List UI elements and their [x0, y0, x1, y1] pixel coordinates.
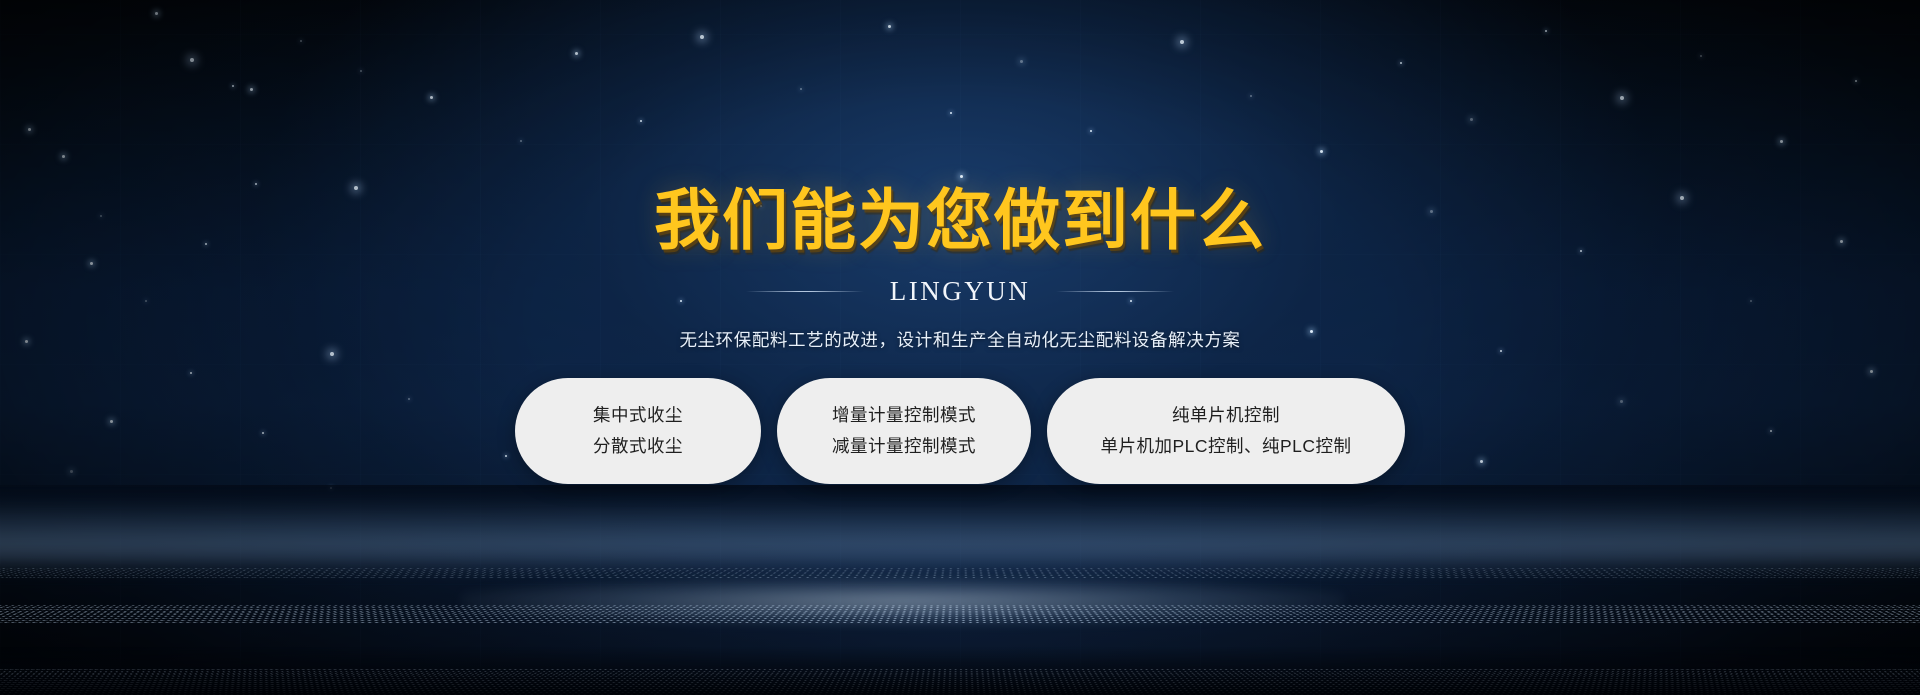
digital-wave-landscape [0, 485, 1920, 695]
wave-dot-layer-near [0, 669, 1920, 695]
hero-banner: 我们能为您做到什么 LINGYUN 无尘环保配料工艺的改进，设计和生产全自动化无… [0, 0, 1920, 695]
pill-line-1: 增量计量控制模式 [811, 400, 997, 431]
pill-line-2: 分散式收尘 [549, 431, 727, 462]
subtitle-row: LINGYUN [0, 276, 1920, 307]
feature-pill-control-system[interactable]: 纯单片机控制 单片机加PLC控制、纯PLC控制 [1047, 378, 1405, 484]
feature-pill-metering-mode[interactable]: 增量计量控制模式 减量计量控制模式 [777, 378, 1031, 484]
pill-line-1: 集中式收尘 [549, 400, 727, 431]
feature-pill-dust-collection[interactable]: 集中式收尘 分散式收尘 [515, 378, 761, 484]
pill-line-1: 纯单片机控制 [1081, 400, 1371, 431]
divider-line-right [1056, 291, 1174, 292]
wave-highlight [461, 577, 1344, 625]
divider-line-left [746, 291, 864, 292]
feature-pill-list: 集中式收尘 分散式收尘 增量计量控制模式 减量计量控制模式 纯单片机控制 单片机… [0, 378, 1920, 484]
wave-bottom-fade [0, 647, 1920, 695]
banner-description: 无尘环保配料工艺的改进，设计和生产全自动化无尘配料设备解决方案 [0, 327, 1920, 352]
wave-top-fade [0, 485, 1920, 565]
pill-line-2: 单片机加PLC控制、纯PLC控制 [1081, 431, 1371, 462]
wave-dot-layer-mid [0, 605, 1920, 623]
pill-line-2: 减量计量控制模式 [811, 431, 997, 462]
wave-haze [0, 499, 1920, 569]
brand-name: LINGYUN [890, 276, 1030, 307]
banner-content: 我们能为您做到什么 LINGYUN 无尘环保配料工艺的改进，设计和生产全自动化无… [0, 0, 1920, 484]
page-title: 我们能为您做到什么 [0, 0, 1920, 254]
wave-dot-layer-far [0, 568, 1920, 579]
